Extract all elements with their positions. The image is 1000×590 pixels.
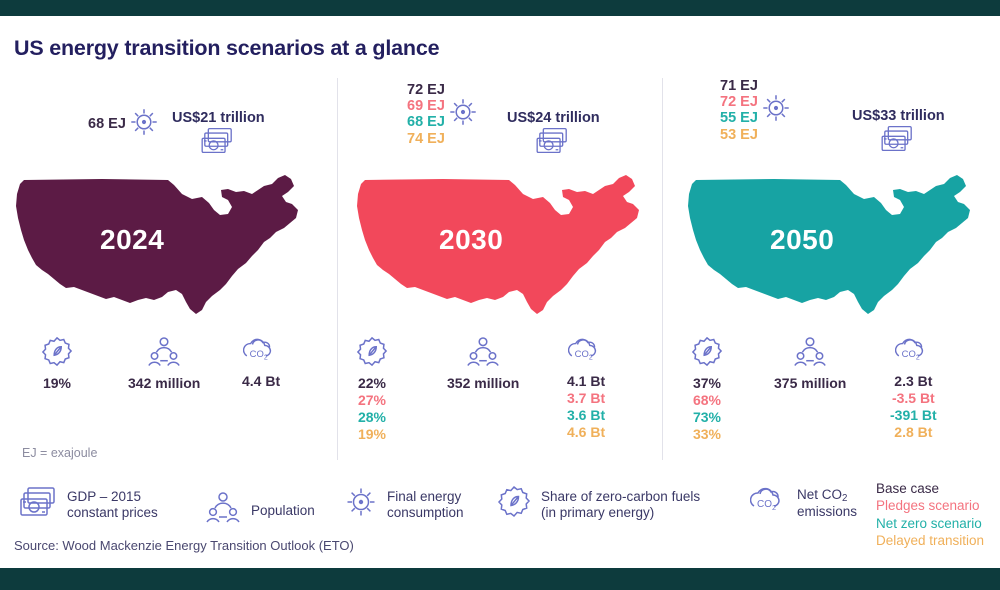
- stat-share-zero-carbon: 37%68%73%33%: [690, 336, 724, 443]
- final-energy-value: 55 EJ: [720, 110, 758, 126]
- share-value: 73%: [693, 409, 721, 426]
- page-title: US energy transition scenarios at a glan…: [14, 36, 439, 61]
- stat-final-energy: 72 EJ69 EJ68 EJ74 EJ: [407, 82, 479, 147]
- stat-gdp: US$24 trillion: [507, 110, 600, 161]
- share-value: 33%: [693, 426, 721, 443]
- share-value: 19%: [43, 375, 71, 392]
- scenario-legend-item: Delayed transition: [876, 532, 984, 549]
- panel-2050: 71 EJ72 EJ55 EJ53 EJ US$33 trillion 2050…: [662, 70, 1000, 470]
- us-map-2050: 2050: [662, 166, 1000, 328]
- legend-label-net-co2: Net CO2emissions: [797, 487, 857, 521]
- scenario-legend: Base casePledges scenarioNet zero scenar…: [876, 480, 984, 549]
- population-value: 352 million: [447, 375, 519, 392]
- net-co2-value: 3.6 Bt: [567, 407, 605, 424]
- share-values: 22%27%28%19%: [358, 375, 386, 443]
- svg-text:CO: CO: [757, 499, 772, 510]
- people-icon: [146, 336, 182, 373]
- net-co2-value: 2.3 Bt: [894, 373, 932, 390]
- co2-cloud-icon: CO 2: [895, 336, 931, 371]
- money-icon: [881, 124, 915, 159]
- svg-text:CO: CO: [902, 349, 916, 360]
- scenario-legend-item: Pledges scenario: [876, 497, 984, 514]
- final-energy-value: 74 EJ: [407, 131, 445, 147]
- share-value: 68%: [693, 392, 721, 409]
- final-energy-value: 72 EJ: [407, 82, 445, 98]
- share-value: 28%: [358, 409, 386, 426]
- legend-label-population: Population: [251, 503, 315, 519]
- final-energy-value: 53 EJ: [720, 127, 758, 143]
- stat-net-co2: CO 2 4.1 Bt3.7 Bt3.6 Bt4.6 Bt: [567, 336, 605, 442]
- gdp-value: US$24 trillion: [507, 110, 600, 126]
- people-icon: [204, 491, 242, 530]
- net-co2-values: 2.3 Bt-3.5 Bt-391 Bt2.8 Bt: [890, 373, 937, 441]
- top-stats-row: 72 EJ69 EJ68 EJ74 EJ US$24 trillion: [337, 70, 662, 170]
- net-co2-value: 3.7 Bt: [567, 390, 605, 407]
- stat-net-co2: CO 2 4.4 Bt: [242, 336, 280, 390]
- final-energy-value: 68 EJ: [407, 114, 445, 130]
- money-icon: [20, 485, 58, 524]
- stat-net-co2: CO 2 2.3 Bt-3.5 Bt-391 Bt2.8 Bt: [890, 336, 937, 442]
- sun-icon: [760, 92, 792, 129]
- co2-cloud-icon: CO 2: [568, 336, 604, 371]
- share-value: 22%: [358, 375, 386, 392]
- population-values: 352 million: [447, 375, 519, 392]
- legend-item-gdp: GDP – 2015constant prices: [20, 485, 158, 524]
- final-energy-values: 68 EJ: [88, 116, 126, 132]
- year-label: 2024: [100, 224, 164, 256]
- population-values: 375 million: [774, 375, 846, 392]
- scenario-legend-item: Base case: [876, 480, 984, 497]
- net-co2-value: 4.6 Bt: [567, 424, 605, 441]
- net-co2-values: 4.1 Bt3.7 Bt3.6 Bt4.6 Bt: [567, 373, 605, 441]
- legend-item-population: Population: [204, 491, 315, 530]
- stat-gdp: US$33 trillion: [852, 108, 945, 159]
- top-stats-row: 68 EJ US$21 trillion: [0, 70, 337, 170]
- legend: GDP – 2015constant prices Population: [14, 478, 994, 540]
- stat-population: 352 million: [447, 336, 519, 392]
- footnote-exajoule: EJ = exajoule: [22, 446, 97, 460]
- bottom-band: [0, 568, 1000, 590]
- legend-label-share-zero-carbon: Share of zero-carbon fuels(in primary en…: [541, 489, 700, 521]
- final-energy-values: 71 EJ72 EJ55 EJ53 EJ: [720, 78, 758, 143]
- panel-2024: 68 EJ US$21 trillion 2024 19%: [0, 70, 337, 470]
- top-band: [0, 0, 1000, 16]
- stat-final-energy: 71 EJ72 EJ55 EJ53 EJ: [720, 78, 792, 143]
- leaf-gear-icon: [496, 485, 532, 524]
- year-label: 2030: [439, 224, 503, 256]
- svg-text:CO: CO: [575, 349, 589, 360]
- share-value: 37%: [693, 375, 721, 392]
- svg-text:CO: CO: [250, 349, 264, 360]
- us-map-2024: 2024: [0, 166, 337, 328]
- source-note: Source: Wood Mackenzie Energy Transition…: [14, 538, 354, 553]
- stat-share-zero-carbon: 19%: [40, 336, 74, 392]
- population-values: 342 million: [128, 375, 200, 392]
- money-icon: [536, 126, 570, 161]
- final-energy-values: 72 EJ69 EJ68 EJ74 EJ: [407, 82, 445, 147]
- leaf-gear-icon: [40, 336, 74, 373]
- net-co2-values: 4.4 Bt: [242, 373, 280, 390]
- people-icon: [792, 336, 828, 373]
- top-stats-row: 71 EJ72 EJ55 EJ53 EJ US$33 trillion: [662, 70, 1000, 170]
- panel-2030: 72 EJ69 EJ68 EJ74 EJ US$24 trillion 2030…: [337, 70, 662, 470]
- sun-icon: [447, 96, 479, 133]
- money-icon: [201, 126, 235, 161]
- svg-text:2: 2: [589, 354, 593, 362]
- share-value: 27%: [358, 392, 386, 409]
- stat-population: 342 million: [128, 336, 200, 392]
- people-icon: [465, 336, 501, 373]
- svg-text:2: 2: [916, 354, 920, 362]
- net-co2-value: -391 Bt: [890, 407, 937, 424]
- sun-icon: [128, 106, 160, 143]
- leaf-gear-icon: [690, 336, 724, 373]
- final-energy-value: 68 EJ: [88, 116, 126, 132]
- co2-cloud-icon: CO 2: [243, 336, 279, 371]
- gdp-value: US$33 trillion: [852, 108, 945, 124]
- sun-icon: [344, 485, 378, 524]
- final-energy-value: 71 EJ: [720, 78, 758, 94]
- final-energy-value: 69 EJ: [407, 98, 445, 114]
- net-co2-value: 4.4 Bt: [242, 373, 280, 390]
- share-value: 19%: [358, 426, 386, 443]
- net-co2-value: 4.1 Bt: [567, 373, 605, 390]
- final-energy-value: 72 EJ: [720, 94, 758, 110]
- stat-share-zero-carbon: 22%27%28%19%: [355, 336, 389, 443]
- legend-item-final-energy: Final energyconsumption: [344, 485, 464, 524]
- legend-label-gdp: GDP – 2015constant prices: [67, 489, 158, 521]
- co2-cloud-icon: CO 2: [750, 485, 788, 522]
- legend-item-share-zero-carbon: Share of zero-carbon fuels(in primary en…: [496, 485, 700, 524]
- gdp-value: US$21 trillion: [172, 110, 265, 126]
- net-co2-value: -3.5 Bt: [892, 390, 935, 407]
- share-values: 19%: [43, 375, 71, 392]
- legend-label-final-energy: Final energyconsumption: [387, 489, 464, 521]
- population-value: 375 million: [774, 375, 846, 392]
- share-values: 37%68%73%33%: [693, 375, 721, 443]
- stat-population: 375 million: [774, 336, 846, 392]
- svg-text:2: 2: [264, 354, 268, 362]
- year-label: 2050: [770, 224, 834, 256]
- stat-final-energy: 68 EJ: [88, 106, 160, 143]
- us-map-2030: 2030: [337, 166, 662, 328]
- net-co2-value: 2.8 Bt: [894, 424, 932, 441]
- legend-item-net-co2: CO 2 Net CO2emissions: [750, 485, 857, 522]
- population-value: 342 million: [128, 375, 200, 392]
- infographic-root: US energy transition scenarios at a glan…: [0, 0, 1000, 590]
- svg-text:2: 2: [772, 503, 776, 512]
- leaf-gear-icon: [355, 336, 389, 373]
- scenario-legend-item: Net zero scenario: [876, 515, 984, 532]
- stat-gdp: US$21 trillion: [172, 110, 265, 161]
